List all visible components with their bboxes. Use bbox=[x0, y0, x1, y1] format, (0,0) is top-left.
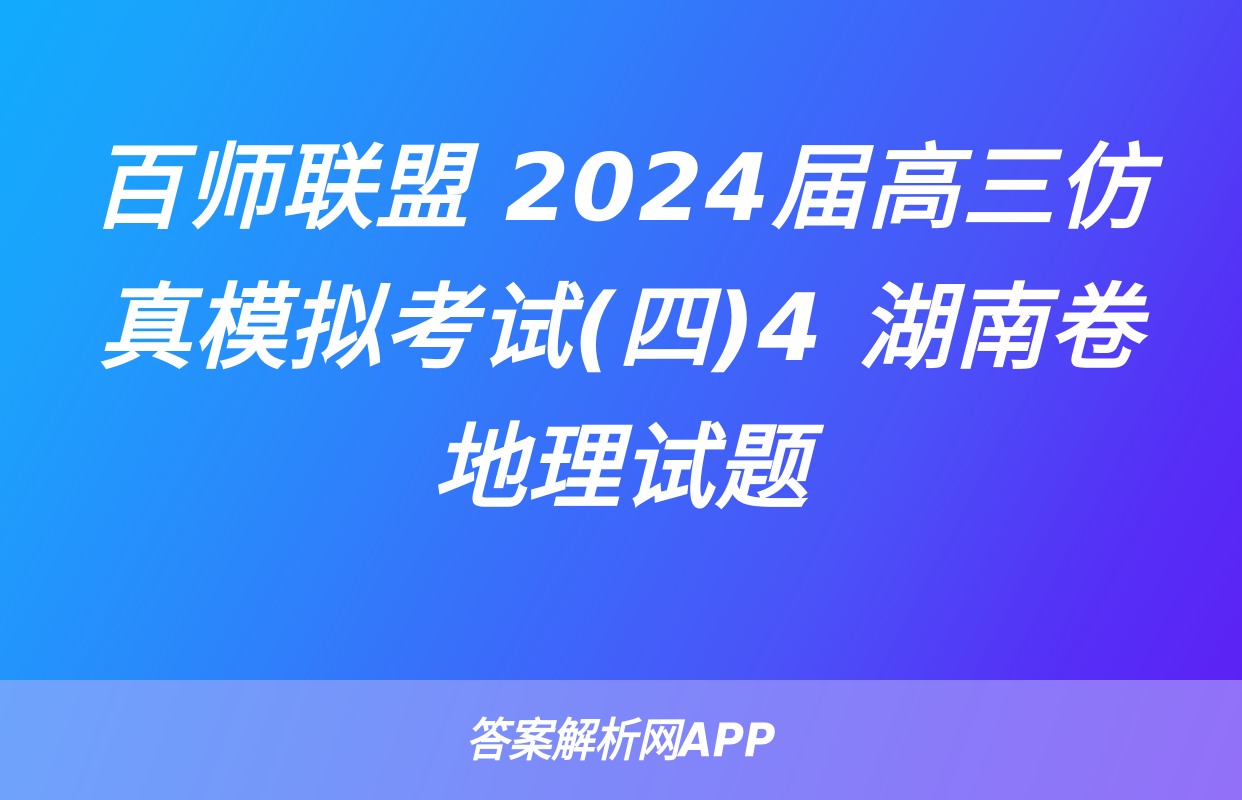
exam-title-block: 百师联盟 2024届高三仿 真模拟考试(四)4 湖南卷 地理试题 bbox=[0, 0, 1242, 680]
exam-title-line-1: 百师联盟 2024届高三仿 bbox=[78, 118, 1164, 258]
exam-title-line-3: 地理试题 bbox=[78, 398, 1164, 538]
gradient-hero-panel: 百师联盟 2024届高三仿 真模拟考试(四)4 湖南卷 地理试题 bbox=[0, 0, 1242, 680]
exam-title-line-2: 真模拟考试(四)4 湖南卷 bbox=[78, 258, 1164, 398]
app-watermark-label: 答案解析网APP bbox=[466, 717, 776, 763]
watermark-footer-strip: 答案解析网APP bbox=[0, 680, 1242, 800]
exam-title-poster: 百师联盟 2024届高三仿 真模拟考试(四)4 湖南卷 地理试题 答案解析网AP… bbox=[0, 0, 1242, 800]
